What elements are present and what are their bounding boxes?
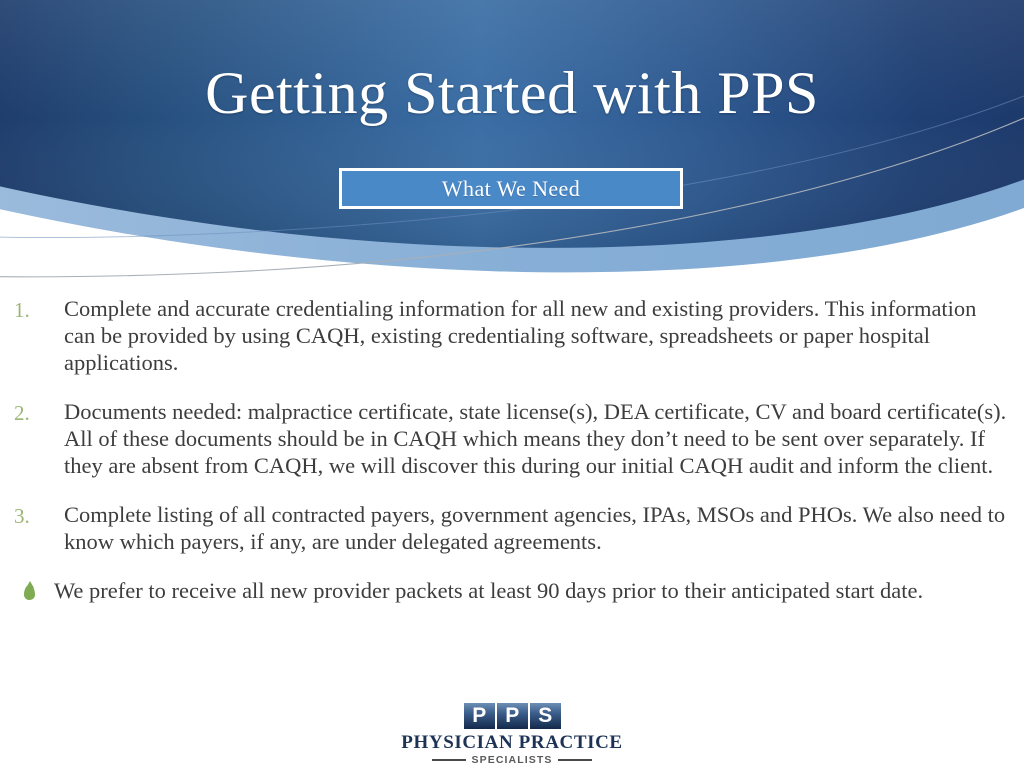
header-banner	[0, 0, 1024, 290]
subtitle-chip: What We Need	[339, 168, 683, 209]
list-item: 3. Complete listing of all contracted pa…	[6, 501, 1020, 555]
logo-tiles: P P S	[464, 703, 561, 729]
logo-tagline-row: SPECIALISTS	[432, 754, 593, 766]
list-item-text-3: Complete listing of all contracted payer…	[64, 501, 1020, 555]
list-item: 2. Documents needed: malpractice certifi…	[6, 398, 1020, 479]
list-item-text-2: Documents needed: malpractice certificat…	[64, 398, 1020, 479]
list-marker-2: 2.	[6, 398, 64, 427]
logo-tile-p2: P	[497, 703, 528, 729]
subtitle-label: What We Need	[442, 176, 580, 202]
header-banner-graphic	[0, 0, 1024, 290]
presentation-slide: Getting Started with PPS What We Need 1.…	[0, 0, 1024, 768]
content-list: 1. Complete and accurate credentialing i…	[6, 295, 1020, 626]
list-marker-3: 3.	[6, 501, 64, 530]
tagline-rule-left	[432, 759, 466, 761]
tagline-rule-right	[558, 759, 592, 761]
list-marker-1: 1.	[6, 295, 64, 324]
droplet-bullet-icon	[24, 585, 35, 600]
logo-tile-p1: P	[464, 703, 495, 729]
logo-tagline: SPECIALISTS	[472, 754, 553, 766]
list-marker-droplet	[6, 577, 54, 579]
list-item: 1. Complete and accurate credentialing i…	[6, 295, 1020, 376]
list-item-text-1: Complete and accurate credentialing info…	[64, 295, 1020, 376]
company-logo: P P S PHYSICIAN PRACTICE SPECIALISTS	[0, 703, 1024, 766]
list-item-text-4: We prefer to receive all new provider pa…	[54, 577, 1020, 604]
logo-tile-s: S	[530, 703, 561, 729]
list-item: We prefer to receive all new provider pa…	[6, 577, 1020, 604]
logo-wordmark: PHYSICIAN PRACTICE	[401, 732, 622, 753]
page-title: Getting Started with PPS	[0, 62, 1024, 125]
